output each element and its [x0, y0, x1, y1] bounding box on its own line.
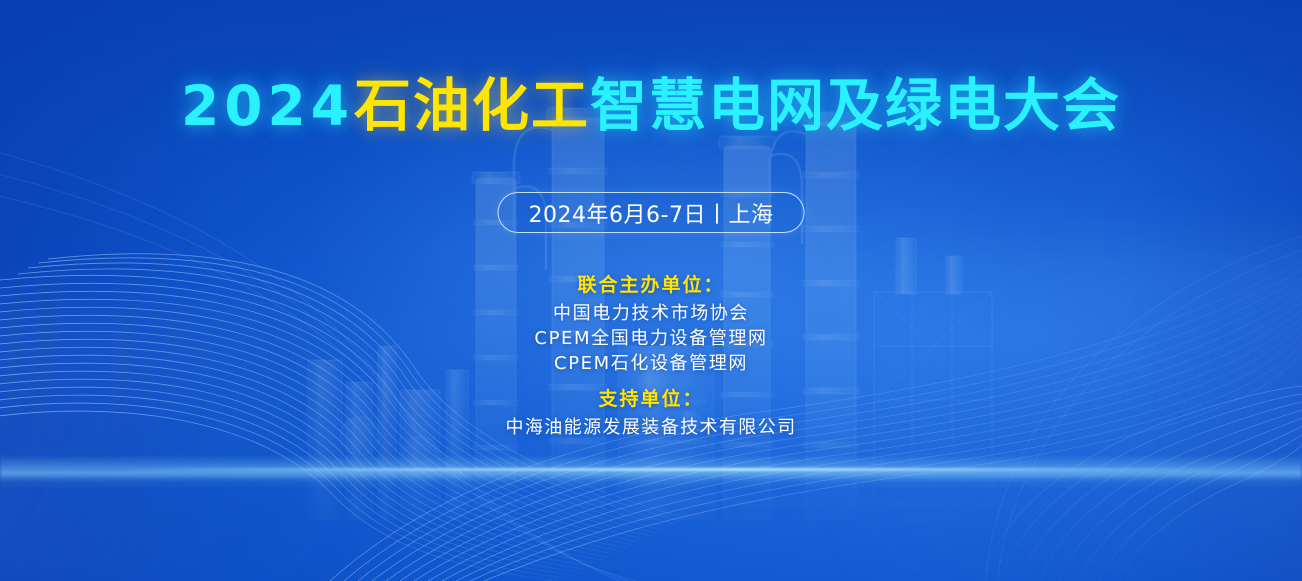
organizer-item: 中国电力技术市场协会 [0, 301, 1302, 326]
title-highlight: 石油化工 [354, 78, 590, 135]
supporters-block: 支持单位： 中海油能源发展装备技术有限公司 [0, 386, 1302, 440]
organizers-heading: 联合主办单位： [0, 272, 1302, 298]
organizers-block: 联合主办单位： 中国电力技术市场协会 CPEM全国电力设备管理网 CPEM石化设… [0, 272, 1302, 376]
organizer-item: CPEM石化设备管理网 [0, 351, 1302, 376]
supporter-item: 中海油能源发展装备技术有限公司 [0, 415, 1302, 440]
supporters-heading: 支持单位： [0, 386, 1302, 412]
date-location-badge: 2024年6月6-7日丨上海 [498, 192, 805, 233]
banner-content: 2024石油化工智慧电网及绿电大会 2024年6月6-7日丨上海 联合主办单位：… [0, 0, 1302, 581]
title-rest: 智慧电网及绿电大会 [590, 78, 1121, 135]
date-location-text: 2024年6月6-7日丨上海 [529, 197, 774, 229]
title-year: 2024 [181, 79, 354, 134]
conference-banner: 2024石油化工智慧电网及绿电大会 2024年6月6-7日丨上海 联合主办单位：… [0, 0, 1302, 581]
organizer-item: CPEM全国电力设备管理网 [0, 326, 1302, 351]
page-title: 2024石油化工智慧电网及绿电大会 [0, 78, 1302, 135]
